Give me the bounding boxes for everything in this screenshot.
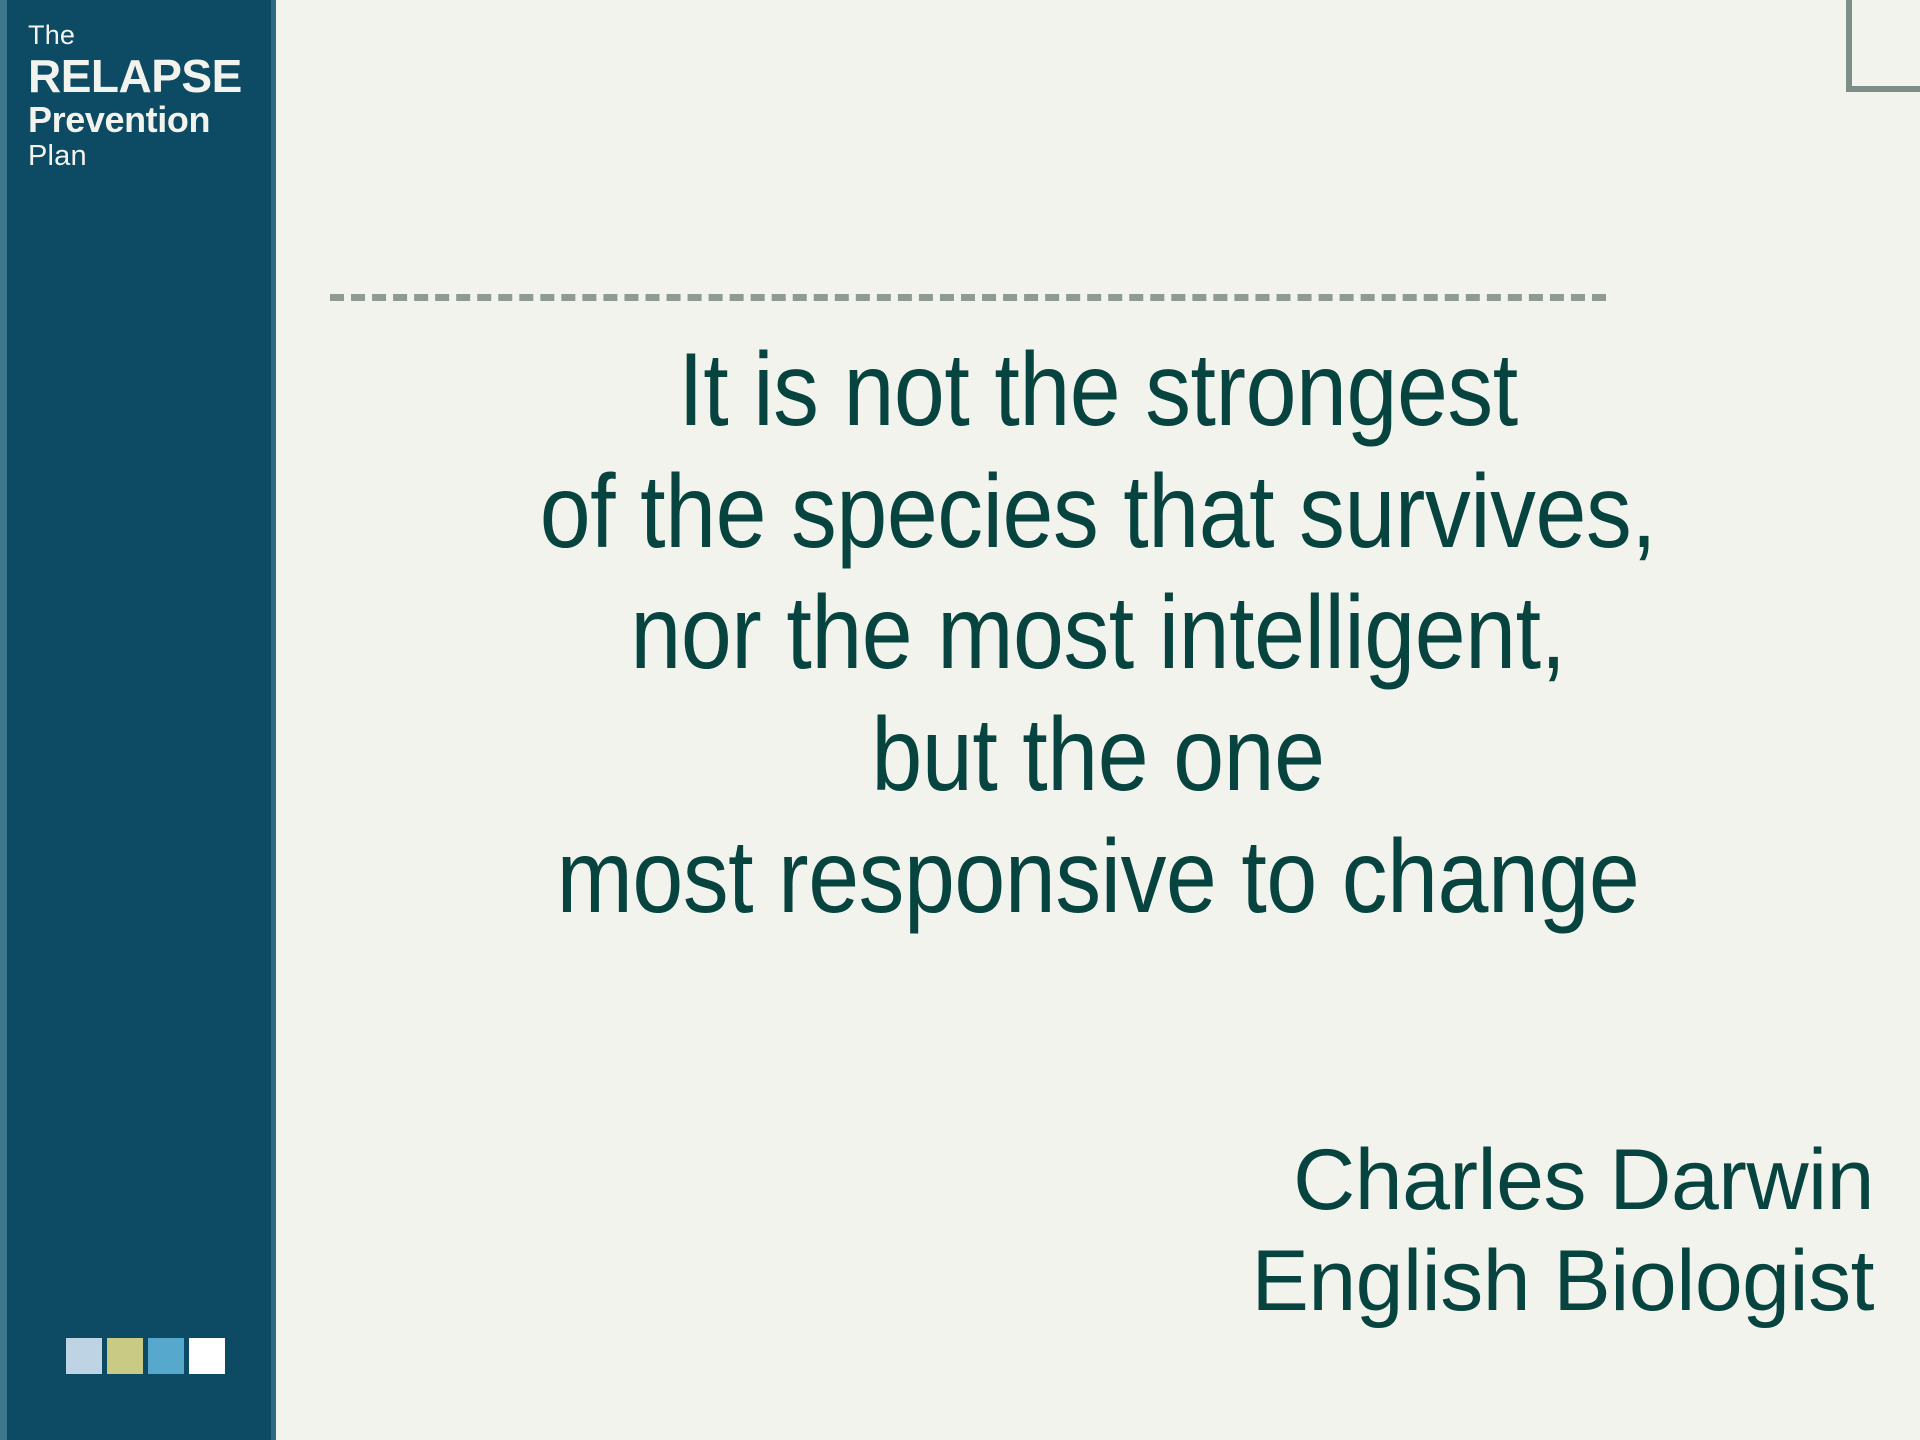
chip-blue xyxy=(148,1338,184,1374)
quote-line-5: most responsive to change xyxy=(375,817,1822,939)
dashed-divider xyxy=(330,294,1606,301)
chip-white xyxy=(189,1338,225,1374)
quote-text: It is not the strongest of the species t… xyxy=(276,330,1920,938)
brand-sidebar: The RELAPSE Prevention Plan xyxy=(0,0,276,1440)
attribution-author: Charles Darwin xyxy=(1251,1130,1874,1231)
chip-light-blue xyxy=(66,1338,102,1374)
quote-line-2: of the species that survives, xyxy=(375,452,1822,574)
presentation-slide: The RELAPSE Prevention Plan It is not th… xyxy=(0,0,1920,1440)
chip-khaki xyxy=(107,1338,143,1374)
logo-line-the: The xyxy=(28,22,248,49)
slide-content: It is not the strongest of the species t… xyxy=(276,0,1920,1440)
quote-line-4: but the one xyxy=(375,695,1822,817)
logo-line-relapse: RELAPSE xyxy=(28,53,248,99)
logo-line-plan: Plan xyxy=(28,142,248,171)
logo-line-prevention: Prevention xyxy=(28,102,248,138)
quote-attribution: Charles Darwin English Biologist xyxy=(1251,1130,1874,1333)
sidebar-left-edge xyxy=(0,0,7,1440)
quote-line-3: nor the most intelligent, xyxy=(375,573,1822,695)
attribution-role: English Biologist xyxy=(1251,1231,1874,1332)
brand-logo: The RELAPSE Prevention Plan xyxy=(28,22,248,171)
color-chip-row xyxy=(66,1338,225,1374)
quote-line-1: It is not the strongest xyxy=(375,330,1822,452)
